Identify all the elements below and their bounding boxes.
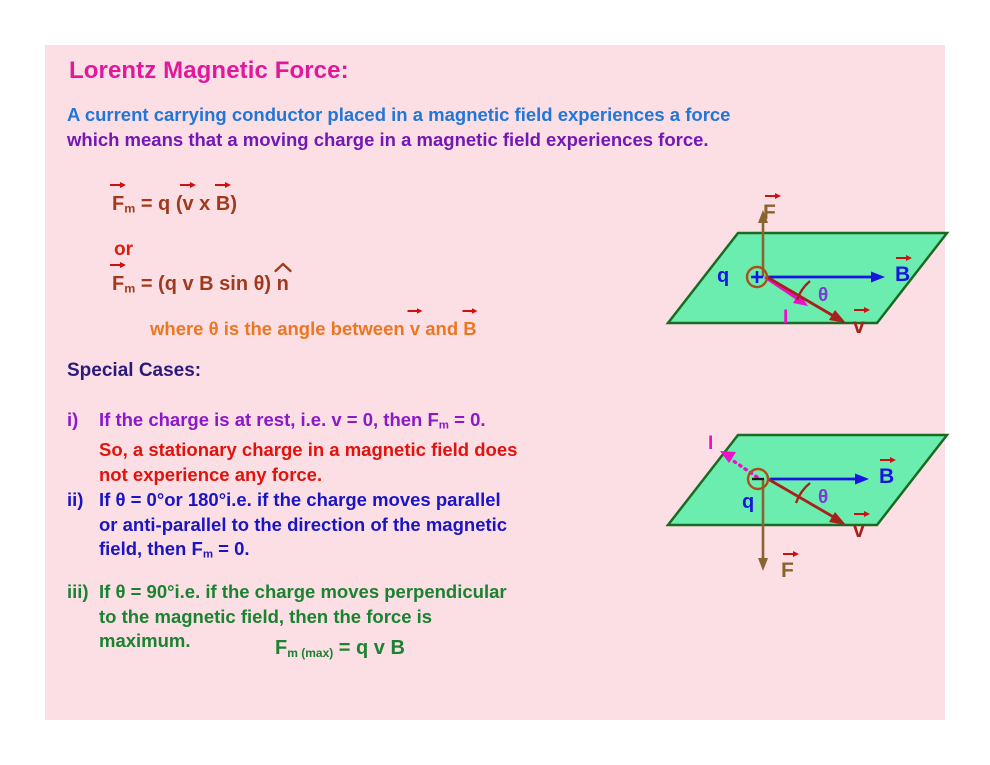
vector-v: v <box>410 318 420 340</box>
vector-arrow-icon <box>215 181 231 189</box>
angle-label: θ <box>818 487 828 509</box>
fmax-rhs: = q v B <box>339 637 405 659</box>
case-1-body: If the charge is at rest, i.e. v = 0, th… <box>99 408 667 487</box>
force-label: F <box>781 559 794 583</box>
case-2-line-3-sub: m <box>203 549 213 561</box>
case-2-marker: ii) <box>67 488 99 513</box>
vector-arrow-icon <box>110 261 126 269</box>
field-label: B <box>879 465 894 489</box>
vector-arrow-icon <box>880 456 896 464</box>
unit-vector-n: n <box>277 273 289 296</box>
theta-definition-note: where θ is the angle between v and B <box>150 318 477 340</box>
vector-v: v <box>182 193 193 216</box>
vector-arrow-icon <box>783 550 799 558</box>
where-note-text: where θ is the angle between <box>150 318 405 339</box>
fmax-lhs: F <box>275 637 287 659</box>
where-and-text: and <box>425 318 458 339</box>
force-label-text: F <box>763 201 776 224</box>
vector-arrow-icon <box>854 306 870 314</box>
case-2-body: If θ = 0°or 180°i.e. if the charge moves… <box>99 488 667 567</box>
case-2-line-3a: field, then F <box>99 538 203 559</box>
formula-lorentz-cross-product: Fm = q ( v x B) <box>112 193 237 216</box>
formula-lorentz-magnitude: Fm = (q v B sin θ) n <box>112 273 289 296</box>
formula-f1-lhs: F <box>112 193 124 215</box>
case-3-line-1: If θ = 90°i.e. if the charge moves perpe… <box>99 581 507 602</box>
vector-B: B <box>463 318 476 340</box>
vector-arrow-icon <box>407 307 422 315</box>
special-case-item-1: i) If the charge is at rest, i.e. v = 0,… <box>67 408 667 487</box>
force-label: F <box>763 201 776 225</box>
slide-canvas: Lorentz Magnetic Force: A current carryi… <box>45 45 945 720</box>
case-1-marker: i) <box>67 408 99 433</box>
formula-f2-rhs: = (q v B sin θ) <box>141 273 271 295</box>
page-title: Lorentz Magnetic Force: <box>69 57 349 85</box>
vector-arrow-icon <box>854 510 870 518</box>
field-label-text: B <box>879 465 894 488</box>
angle-label: θ <box>818 285 828 307</box>
vector-B: B <box>216 193 230 216</box>
positive-charge-diagram: F q B I v θ <box>605 155 935 370</box>
special-case-item-2: ii) If θ = 0°or 180°i.e. if the charge m… <box>67 488 667 567</box>
vector-F-m: F <box>112 193 124 216</box>
formula-force-maximum: Fm (max) = q v B <box>275 637 405 660</box>
case-1-line-1a: If the charge is at rest, i.e. v = 0, th… <box>99 409 439 430</box>
case-1-line-3: not experience any force. <box>99 463 667 488</box>
vector-arrow-icon <box>765 192 781 200</box>
current-label: I <box>708 433 713 455</box>
current-label: I <box>783 307 788 329</box>
vector-arrow-icon <box>896 254 912 262</box>
force-label-text: F <box>781 559 794 582</box>
intro-paragraph: A current carrying conductor placed in a… <box>67 102 907 152</box>
special-cases-heading: Special Cases: <box>67 360 201 382</box>
case-2-line-1: If θ = 0°or 180°i.e. if the charge moves… <box>99 489 501 510</box>
formula-f2-lhs: F <box>112 273 124 295</box>
force-vector-head <box>758 558 768 571</box>
case-3-marker: iii) <box>67 580 99 605</box>
formula-f1-lhs-sub: m <box>124 202 135 216</box>
or-label: or <box>114 239 133 261</box>
charge-label: q <box>717 265 729 288</box>
velocity-label: v <box>853 519 865 543</box>
velocity-label: v <box>853 315 865 339</box>
case-1-line-1-sub: m <box>439 420 449 432</box>
vector-arrow-icon <box>462 307 477 315</box>
case-2-line-3b: = 0. <box>213 538 250 559</box>
case-3-line-2: to the magnetic field, then the force is <box>99 606 432 627</box>
velocity-label-text: v <box>853 315 865 338</box>
field-label-text: B <box>895 263 910 286</box>
hat-caret-icon <box>274 263 291 272</box>
formula-f2-lhs-sub: m <box>124 282 135 296</box>
case-1-line-2: So, a stationary charge in a magnetic fi… <box>99 438 667 463</box>
intro-line-1: A current carrying conductor placed in a… <box>67 102 907 127</box>
case-1-line-1b: = 0. <box>449 409 486 430</box>
vector-arrow-icon <box>110 181 126 189</box>
intro-line-2: which means that a moving charge in a ma… <box>67 127 907 152</box>
negative-charge-diagram: I q B v θ F <box>605 415 935 645</box>
vector-F-m: F <box>112 273 124 296</box>
fmax-sub: m (max) <box>287 646 333 660</box>
velocity-label-text: v <box>853 519 865 542</box>
case-2-line-2: or anti-parallel to the direction of the… <box>99 514 507 535</box>
case-3-line-3: maximum. <box>99 630 191 651</box>
field-label: B <box>895 263 910 287</box>
formula-f1-eq: = q ( <box>141 193 183 215</box>
vector-arrow-icon <box>180 181 196 189</box>
charge-label: q <box>742 491 754 514</box>
